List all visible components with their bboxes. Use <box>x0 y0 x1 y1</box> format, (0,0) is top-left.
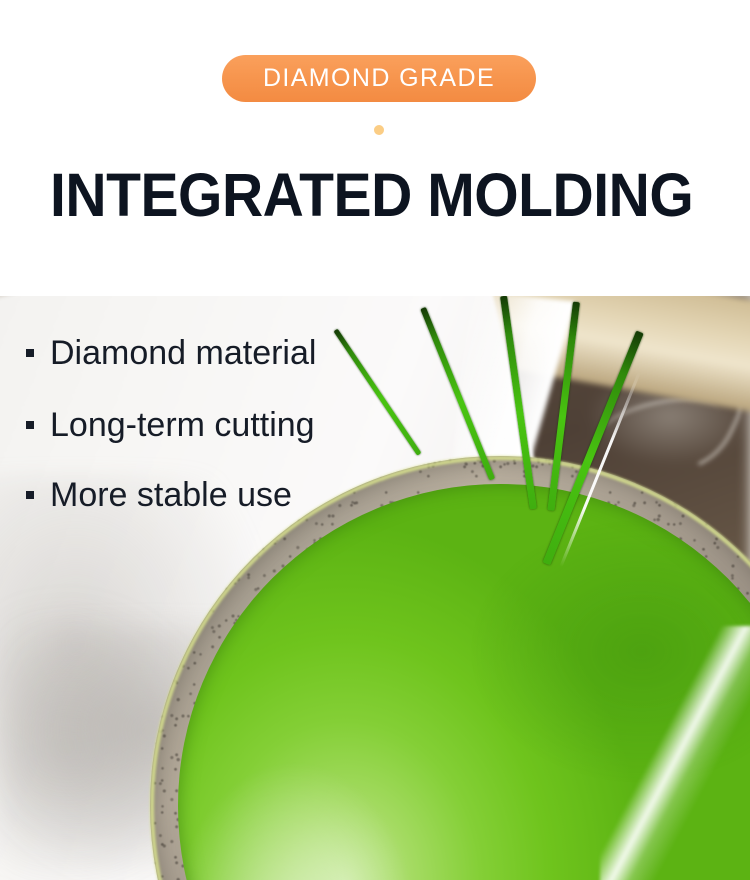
list-item: More stable use <box>26 473 292 517</box>
list-item: Long-term cutting <box>26 403 315 447</box>
blade-specular-highlight <box>600 626 750 880</box>
square-bullet-icon <box>26 349 34 357</box>
product-photo <box>0 296 750 880</box>
square-bullet-icon <box>26 421 34 429</box>
slot-2 <box>420 307 495 481</box>
list-item-label: More stable use <box>50 473 292 517</box>
header-section: DIAMOND GRADE INTEGRATED MOLDING <box>0 0 750 296</box>
list-item-label: Long-term cutting <box>50 403 315 447</box>
diamond-grade-badge: DIAMOND GRADE <box>222 55 536 102</box>
accent-dot <box>374 125 384 135</box>
product-feature-banner: DIAMOND GRADE INTEGRATED MOLDING <box>0 0 750 880</box>
badge-label: DIAMOND GRADE <box>263 66 495 92</box>
square-bullet-icon <box>26 491 34 499</box>
page-title: INTEGRATED MOLDING <box>50 160 676 230</box>
slot-1 <box>333 329 421 456</box>
list-item-label: Diamond material <box>50 331 316 375</box>
list-item: Diamond material <box>26 331 316 375</box>
saw-blade-disc <box>0 296 750 880</box>
